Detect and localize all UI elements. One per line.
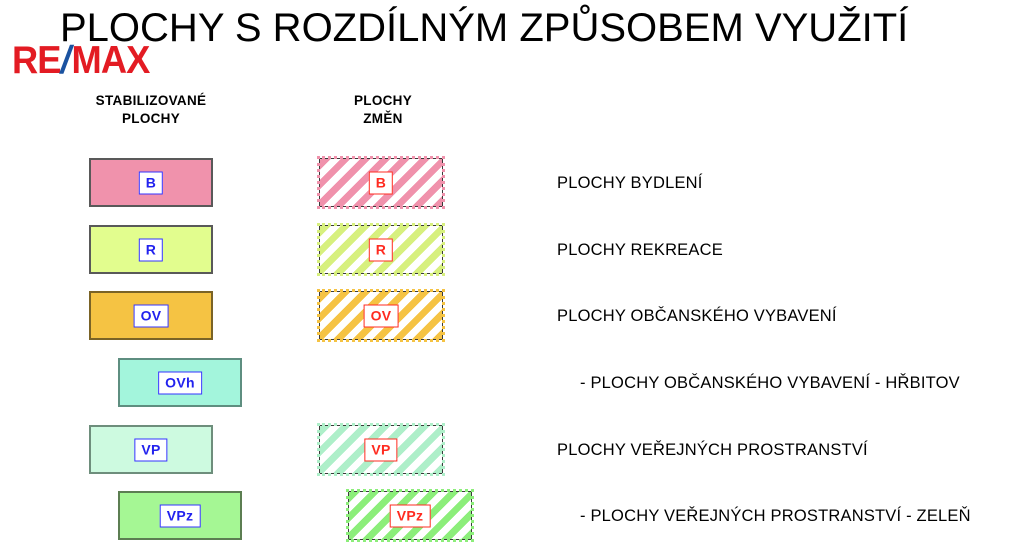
- swatch-code-label: VP: [134, 438, 167, 461]
- column-header-plochy-zmen: PLOCHYZMĚN: [320, 92, 446, 128]
- swatch-stable-r[interactable]: R: [89, 225, 213, 274]
- swatch-code-label: VPz: [390, 504, 431, 527]
- legend-label-ovh: - PLOCHY OBČANSKÉHO VYBAVENÍ - HŘBITOV: [580, 375, 960, 392]
- swatch-change-vpz[interactable]: VPz: [348, 491, 472, 540]
- swatch-code-label: OV: [134, 304, 169, 327]
- legend-label-ov: PLOCHY OBČANSKÉHO VYBAVENÍ: [557, 308, 837, 325]
- page-title: PLOCHY S ROZDÍLNÝM ZPŮSOBEM VYUŽITÍ: [60, 7, 908, 50]
- legend-label-b: PLOCHY BYDLENÍ: [557, 175, 703, 192]
- swatch-code-label: OV: [364, 304, 399, 327]
- logo-text-re: RE: [12, 39, 61, 82]
- legend-label-vpz: - PLOCHY VEŘEJNÝCH PROSTRANSTVÍ - ZELEŇ: [580, 508, 971, 525]
- swatch-code-label: R: [369, 238, 393, 261]
- swatch-code-label: VP: [364, 438, 397, 461]
- swatch-stable-b[interactable]: B: [89, 158, 213, 207]
- swatch-change-vp[interactable]: VP: [319, 425, 443, 474]
- swatch-code-label: VPz: [160, 504, 201, 527]
- legend-label-r: PLOCHY REKREACE: [557, 242, 723, 259]
- swatch-code-label: OVh: [158, 371, 202, 394]
- swatch-code-label: B: [139, 171, 163, 194]
- swatch-stable-vp[interactable]: VP: [89, 425, 213, 474]
- swatch-stable-ov[interactable]: OV: [89, 291, 213, 340]
- swatch-code-label: B: [369, 171, 393, 194]
- legend-page: RE/MAX PLOCHY S ROZDÍLNÝM ZPŮSOBEM VYUŽI…: [0, 0, 1024, 557]
- legend-label-vp: PLOCHY VEŘEJNÝCH PROSTRANSTVÍ: [557, 442, 868, 459]
- column-header-stabilizovane-plochy: STABILIZOVANÉPLOCHY: [74, 92, 228, 128]
- swatch-stable-ovh[interactable]: OVh: [118, 358, 242, 407]
- swatch-code-label: R: [139, 238, 163, 261]
- swatch-change-r[interactable]: R: [319, 225, 443, 274]
- swatch-change-ov[interactable]: OV: [319, 291, 443, 340]
- swatch-stable-vpz[interactable]: VPz: [118, 491, 242, 540]
- swatch-change-b[interactable]: B: [319, 158, 443, 207]
